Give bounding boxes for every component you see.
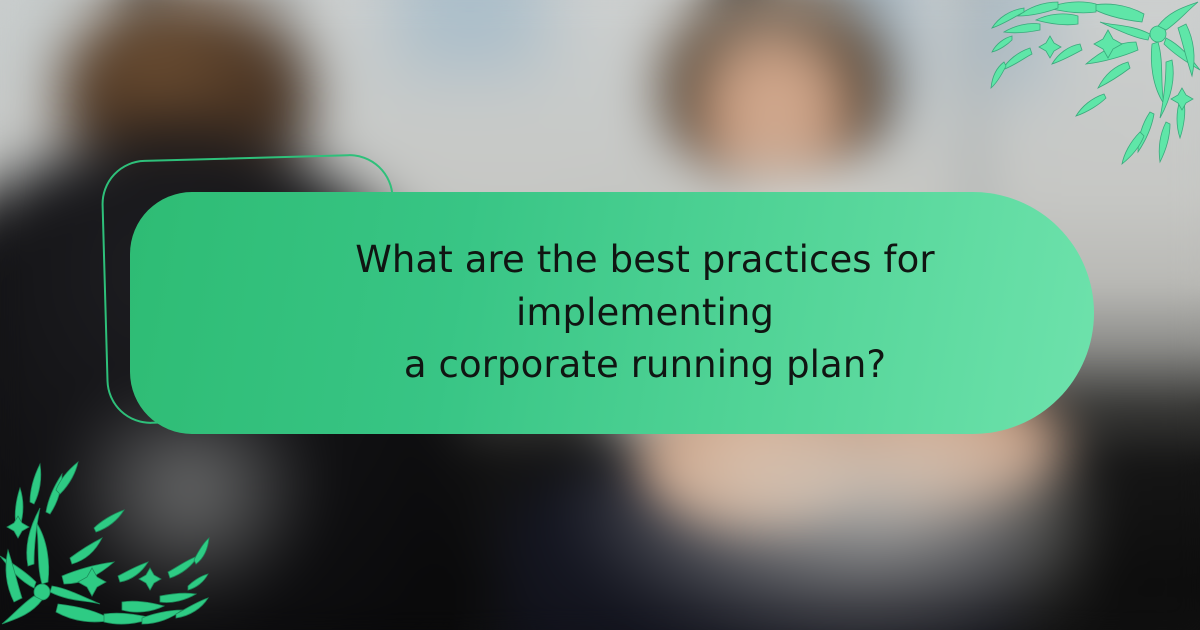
floral-corner-ornament-bottom-left [0,461,210,630]
question-line-1: What are the best practices for implemen… [355,238,934,334]
question-text: What are the best practices for implemen… [182,234,1042,392]
banner-canvas: What are the best practices for implemen… [0,0,1200,630]
floral-corner-ornament-top-right [990,0,1200,169]
question-card: What are the best practices for implemen… [130,192,1094,434]
question-line-2: a corporate running plan? [404,343,886,386]
